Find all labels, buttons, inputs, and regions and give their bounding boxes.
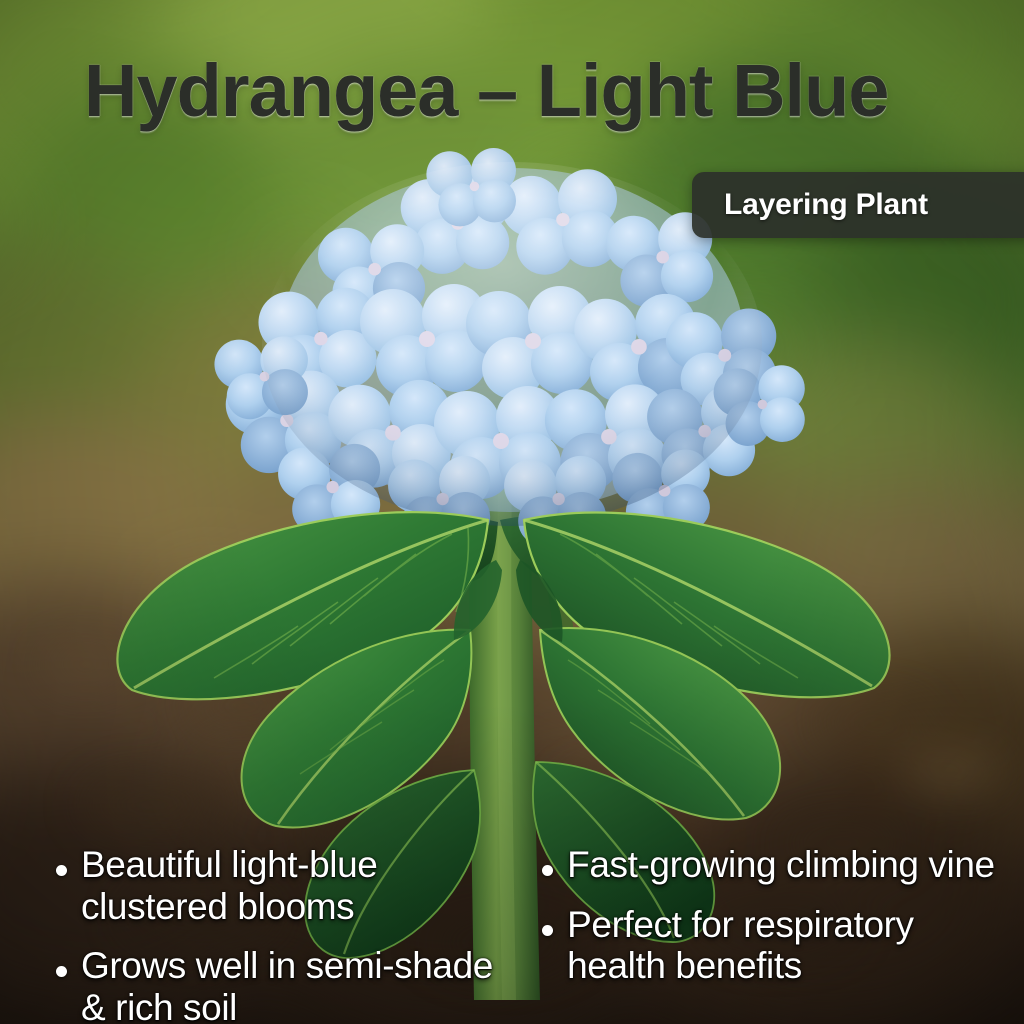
bullet-text: Beautiful light-blue clustered blooms xyxy=(81,844,514,927)
list-item: Perfect for respiratory health benefits xyxy=(542,904,1010,987)
list-item: Fast-growing climbing vine xyxy=(542,844,1010,885)
bullet-text: Perfect for respiratory health benefits xyxy=(567,904,1010,987)
category-badge: Layering Plant xyxy=(692,172,1024,238)
bullet-dot-icon xyxy=(56,966,67,977)
bullet-column-right: Fast-growing climbing vine Perfect for r… xyxy=(542,844,1010,986)
bullet-text: Grows well in semi-shade & rich soil xyxy=(81,945,514,1024)
badge-label: Layering Plant xyxy=(724,188,928,222)
list-item: Grows well in semi-shade & rich soil xyxy=(56,945,514,1024)
bullet-text: Fast-growing climbing vine xyxy=(567,844,995,885)
bullet-dot-icon xyxy=(56,865,67,876)
page-title: Hydrangea – Light Blue xyxy=(84,48,888,133)
bullet-column-left: Beautiful light-blue clustered blooms Gr… xyxy=(56,844,514,1024)
list-item: Beautiful light-blue clustered blooms xyxy=(56,844,514,927)
feature-bullets: Beautiful light-blue clustered blooms Gr… xyxy=(56,844,1010,1024)
bullet-dot-icon xyxy=(542,865,553,876)
bullet-dot-icon xyxy=(542,925,553,936)
plant-info-card: Hydrangea – Light Blue Layering Plant Be… xyxy=(0,0,1024,1024)
